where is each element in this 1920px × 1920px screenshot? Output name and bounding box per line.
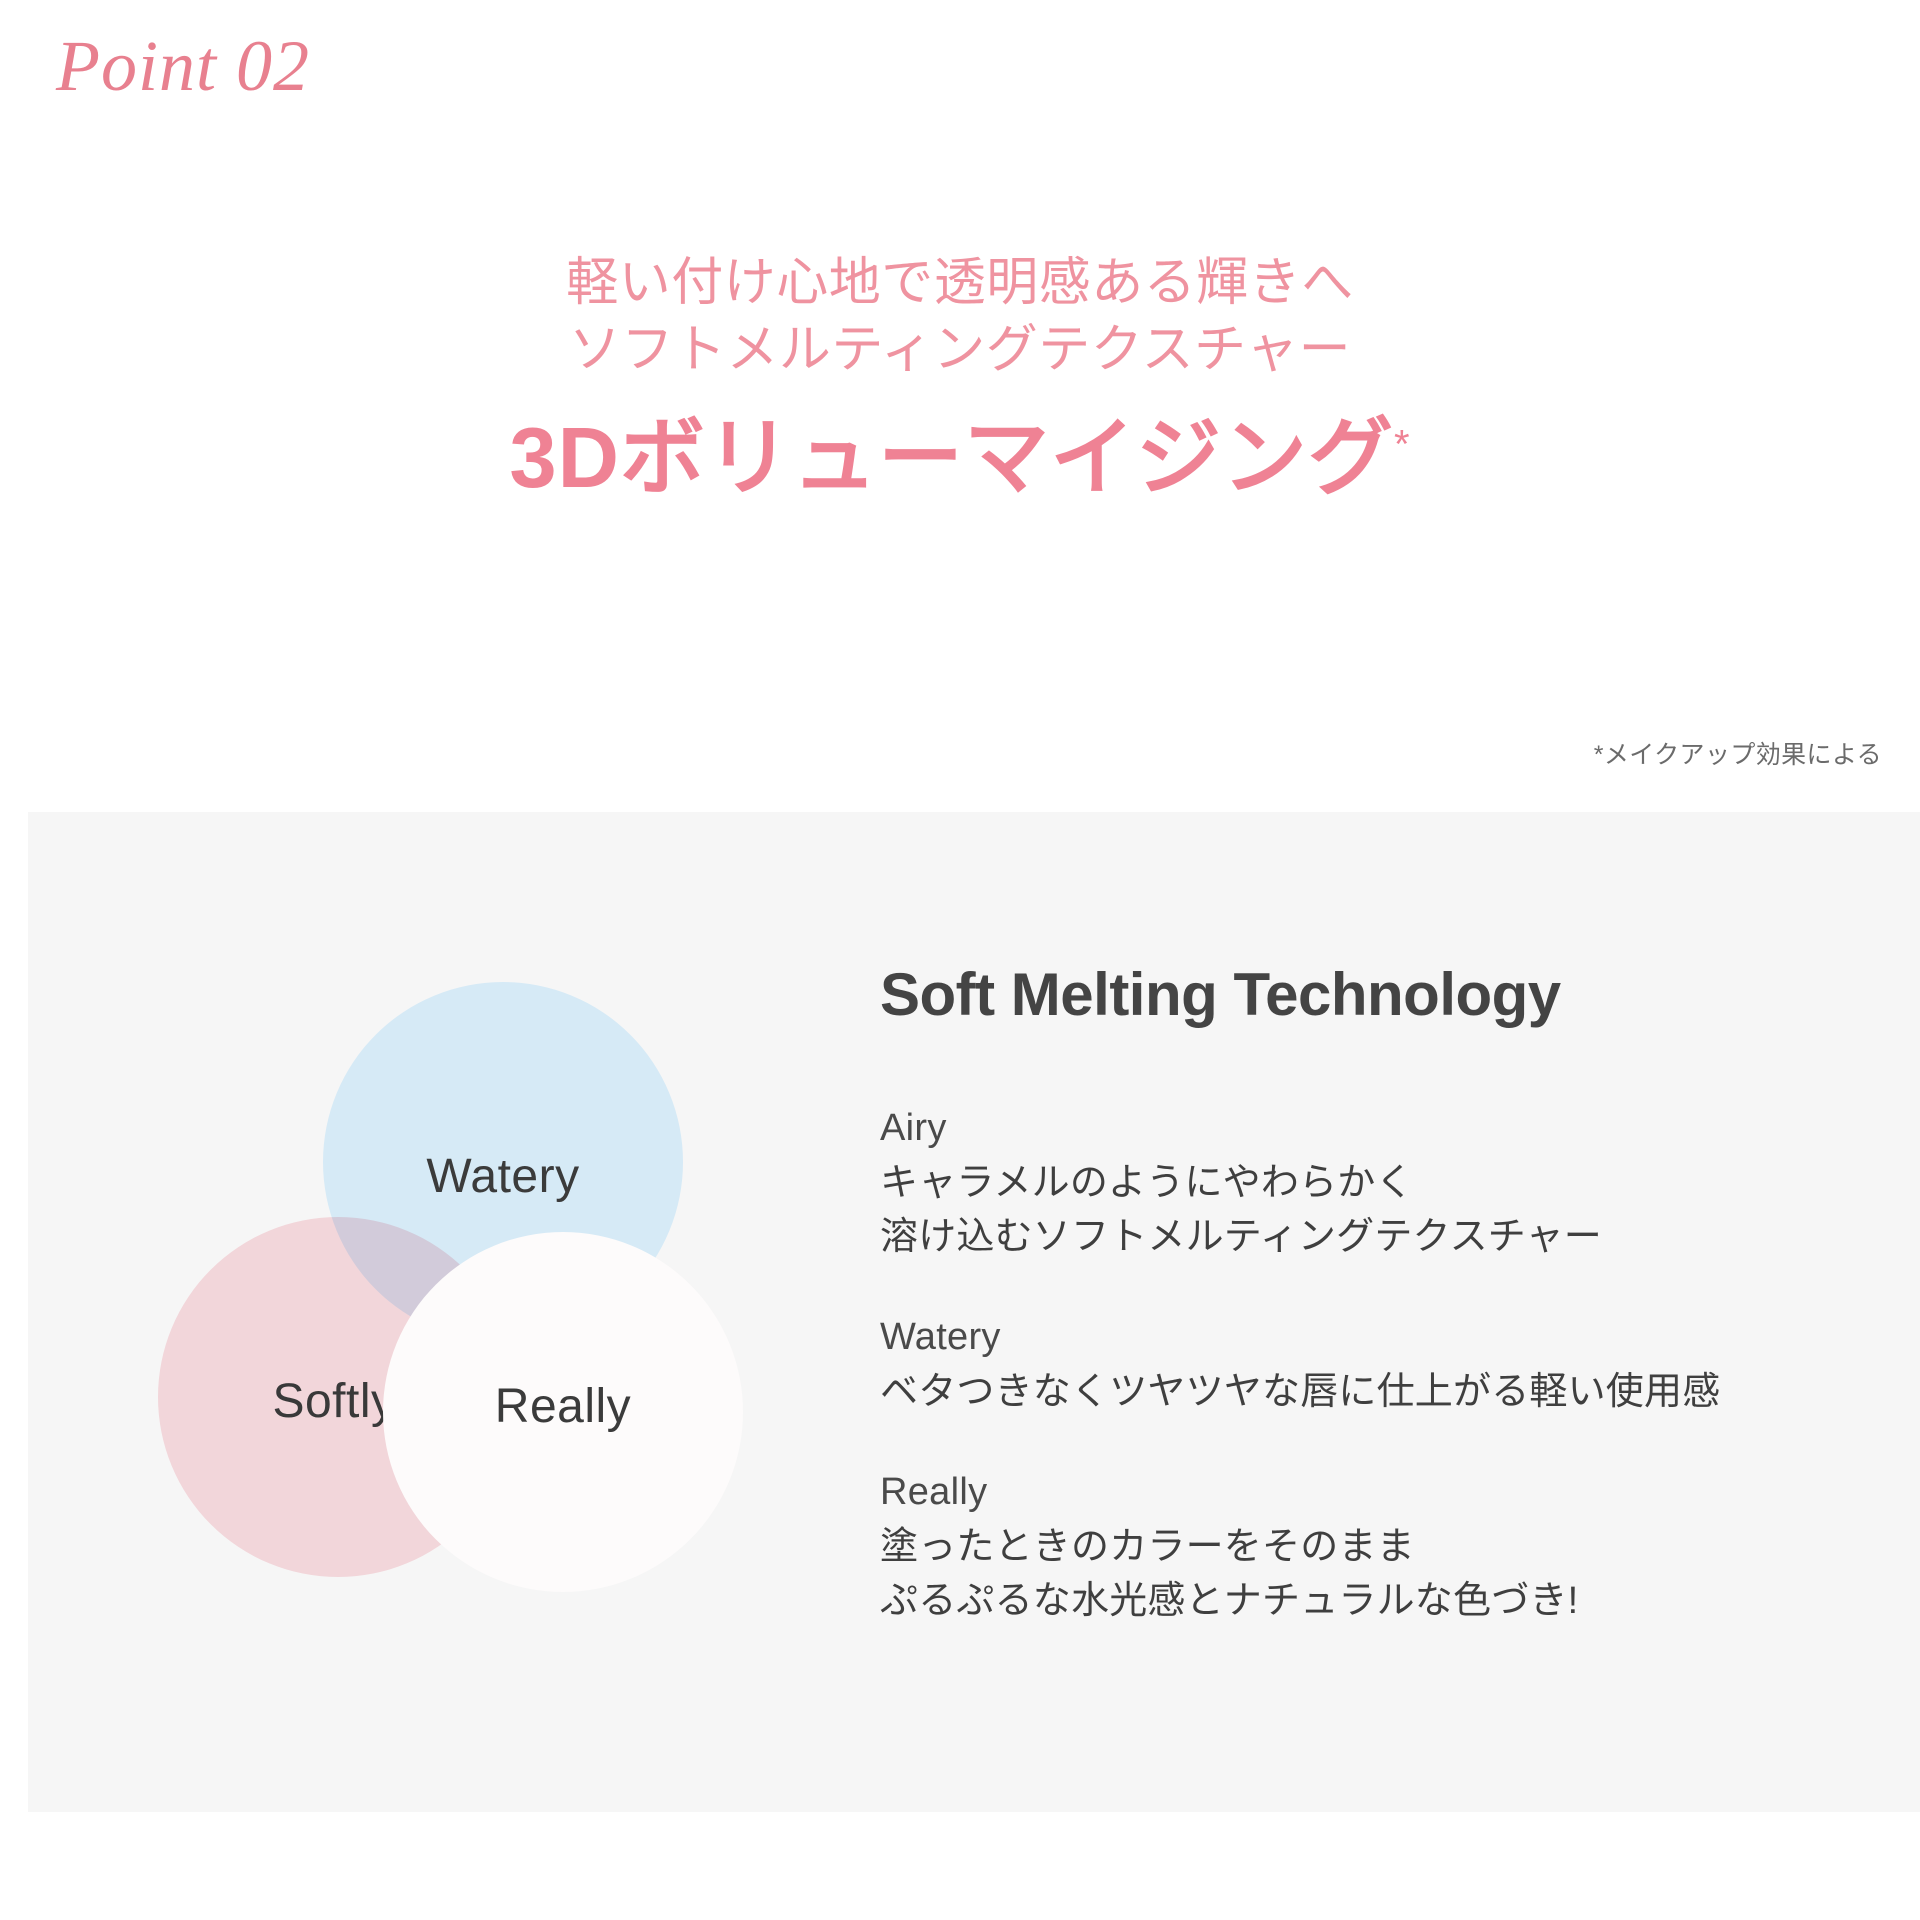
technology-item-name: Watery [880, 1309, 1880, 1366]
venn-diagram: Watery Softly Really [158, 962, 848, 1642]
technology-item-really: Really 塗ったときのカラーをそのまま ぷるぷるな水光感とナチュラルな色づき… [880, 1464, 1880, 1629]
technology-item-description: キャラメルのようにやわらかく 溶け込むソフトメルティングテクスチャー [880, 1157, 1880, 1265]
hero-subtitle-line-1: 軽い付け心地で透明感ある輝きへ [0, 250, 1920, 317]
venn-label-watery: Watery [426, 1149, 579, 1204]
technology-item-description: 塗ったときのカラーをそのまま ぷるぷるな水光感とナチュラルな色づき! [880, 1521, 1880, 1629]
technology-item-description: ベタつきなくツヤツヤな唇に仕上がる軽い使用感 [880, 1366, 1880, 1420]
hero-title-text: 3Dボリューマイジング [509, 411, 1394, 506]
technology-item-airy: Airy キャラメルのようにやわらかく 溶け込むソフトメルティングテクスチャー [880, 1100, 1880, 1265]
hero-subtitle: 軽い付け心地で透明感ある輝きへ ソフトメルティングテクスチャー [0, 250, 1920, 383]
technology-panel: Watery Softly Really Soft Melting Techno… [28, 812, 1920, 1812]
technology-list: Airy キャラメルのようにやわらかく 溶け込むソフトメルティングテクスチャー … [880, 1100, 1880, 1629]
technology-item-desc-line-2: ぷるぷるな水光感とナチュラルな色づき! [880, 1575, 1880, 1629]
venn-label-softly: Softly [272, 1374, 395, 1429]
technology-text-column: Soft Melting Technology Airy キャラメルのようにやわ… [880, 962, 1880, 1629]
venn-label-really: Really [495, 1379, 631, 1434]
technology-item-desc-line-1: ベタつきなくツヤツヤな唇に仕上がる軽い使用感 [880, 1366, 1880, 1420]
venn-circle-really: Really [383, 1232, 743, 1592]
technology-item-desc-line-2: 溶け込むソフトメルティングテクスチャー [880, 1211, 1880, 1265]
point-label: Point 02 [56, 30, 310, 102]
technology-item-desc-line-1: 塗ったときのカラーをそのまま [880, 1521, 1880, 1575]
hero-section: 軽い付け心地で透明感ある輝きへ ソフトメルティングテクスチャー 3Dボリューマイ… [0, 250, 1920, 509]
hero-title: 3Dボリューマイジング* [0, 409, 1920, 509]
footnote: *メイクアップ効果による [1594, 735, 1882, 771]
technology-item-name: Airy [880, 1100, 1880, 1157]
technology-item-watery: Watery ベタつきなくツヤツヤな唇に仕上がる軽い使用感 [880, 1309, 1880, 1420]
hero-subtitle-line-2: ソフトメルティングテクスチャー [0, 317, 1920, 384]
hero-title-asterisk: * [1394, 423, 1411, 467]
technology-item-name: Really [880, 1464, 1880, 1521]
technology-item-desc-line-1: キャラメルのようにやわらかく [880, 1157, 1880, 1211]
technology-title: Soft Melting Technology [880, 962, 1880, 1028]
